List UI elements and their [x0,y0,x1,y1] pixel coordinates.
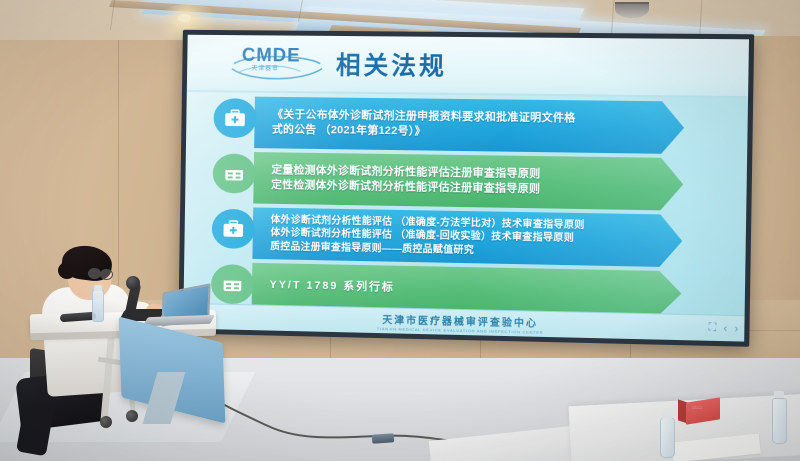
prev-slide-icon[interactable]: ‹ [723,322,727,334]
desk-caster [100,416,112,428]
presentation-slide: CMDE 天津器审 相关法规 [183,35,749,342]
calendar-icon [223,164,245,182]
row-text: YY/T 1789 系列行标 [269,263,395,309]
slide-row: 定量检测体外诊断试剂分析性能评估注册审查指导原则 定性检测体外诊断试剂分析性能评… [212,151,728,211]
slide-row: 《关于公布体外诊断试剂注册申报资料要求和批准证明文件格 式的公告 （2021年第… [213,96,729,155]
row-badge [211,264,255,304]
slide-row: 体外诊断试剂分析性能评估 （准确度-方法学比对）技术审查指导原则 体外诊断试剂分… [211,207,727,268]
row-text: 《关于公布体外诊断试剂注册申报资料要求和批准证明文件格 式的公告 （2021年第… [272,97,576,153]
logo-subtext: 天津器审 [251,63,279,72]
next-slide-icon[interactable]: › [734,323,738,335]
microphone-head [126,276,140,290]
row-line: 定性检测体外诊断试剂分析性能评估注册审查指导原则 [271,178,540,197]
glasses-icon [100,269,113,280]
row-text: 体外诊断试剂分析性能评估 （准确度-方法学比对）技术审查指导原则 体外诊断试剂分… [270,208,585,266]
slide-nav-controls[interactable]: ⛶ ‹ › [708,322,738,336]
desk-caster [126,410,138,422]
photo-scene: CMDE 天津器审 相关法规 [0,0,800,461]
medical-briefcase-icon [222,220,244,238]
ceiling-speaker-icon [615,2,649,18]
row-line: 式的公告 （2021年第122号）》 [272,123,576,142]
water-bottle[interactable] [92,290,104,322]
cmde-logo: CMDE 天津器审 [228,43,327,84]
row-badge [213,98,257,138]
slide-title: 相关法规 [336,46,448,83]
water-bottle[interactable] [772,398,787,444]
bottle-cap [662,412,672,419]
calendar-icon [222,275,244,293]
row-text: 定量检测体外诊断试剂分析性能评估注册审查指导原则 定性检测体外诊断试剂分析性能评… [271,152,541,208]
power-adapter [372,433,395,444]
downlight-icon [178,14,191,22]
row-badge [212,153,256,193]
fullscreen-icon[interactable]: ⛶ [708,322,716,335]
presenter-hair-bun [58,262,76,279]
led-display-screen[interactable]: CMDE 天津器审 相关法规 [178,30,754,347]
bottle-cap [774,391,784,398]
table-tent-text: □□□ [692,405,702,410]
screen-surface: CMDE 天津器审 相关法规 [183,35,749,342]
water-bottle[interactable] [660,418,675,458]
medical-briefcase-icon [224,109,246,127]
bottle-cap [94,285,102,291]
row-badge [212,209,256,249]
slide-rows: 《关于公布体外诊断试剂注册申报资料要求和批准证明文件格 式的公告 （2021年第… [211,96,730,321]
row-line: YY/T 1789 系列行标 [269,278,394,295]
